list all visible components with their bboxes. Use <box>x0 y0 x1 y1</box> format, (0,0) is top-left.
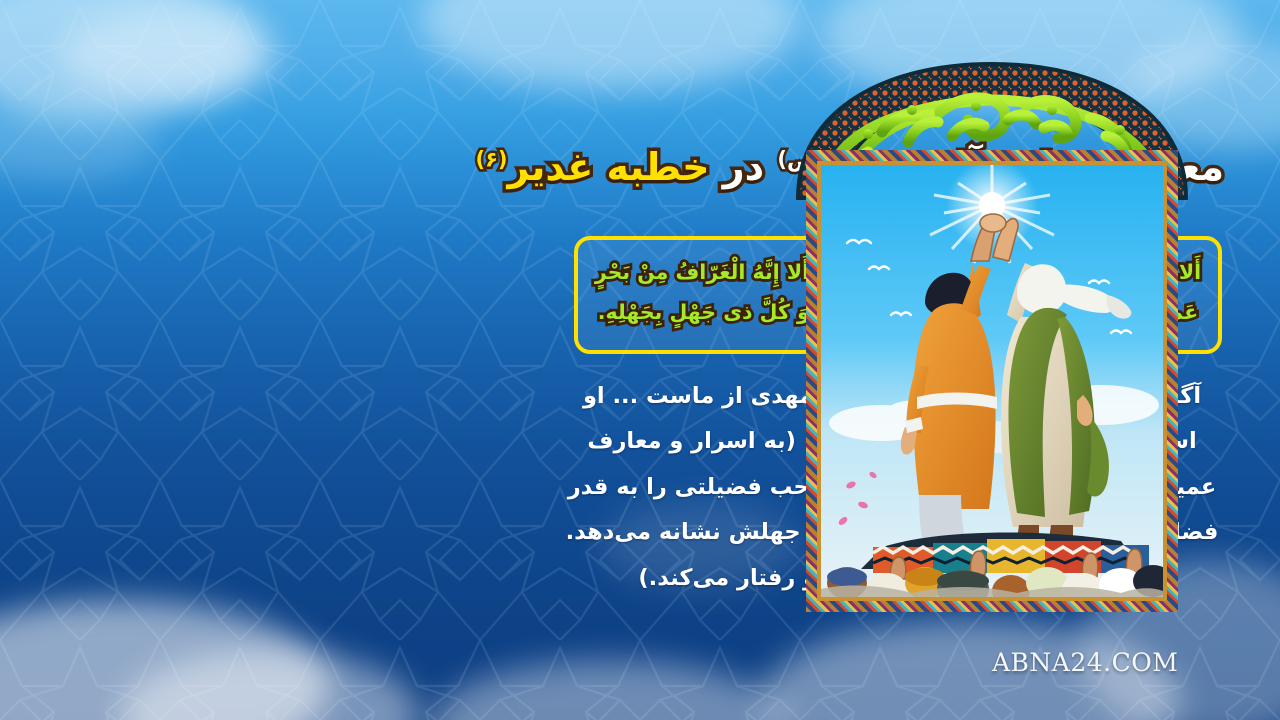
cloud-bottom-left <box>0 600 330 720</box>
poster-canvas: معرفی قائم آل محمد(ص) در خطبه غدیر(۶) أَ… <box>0 0 1280 720</box>
cloud-top-center <box>420 0 800 90</box>
cloud-bottom-left-2 <box>120 650 420 720</box>
cloud-top-right <box>820 0 1240 110</box>
cloud-mid-left <box>0 100 160 180</box>
title-part-2: در <box>710 145 778 189</box>
cloud-top-far-right <box>1120 40 1280 150</box>
cloud-top-left <box>0 0 260 120</box>
title-superscript-number: (۶) <box>475 147 507 171</box>
illustration-scene <box>821 165 1163 597</box>
site-watermark: ABNA24.COM <box>992 648 1178 677</box>
title-highlight: خطبه غدیر <box>508 145 710 189</box>
cloud-top-left-2 <box>60 10 280 100</box>
illustration-frame <box>806 150 1178 612</box>
cloud-bottom-center <box>430 660 790 720</box>
